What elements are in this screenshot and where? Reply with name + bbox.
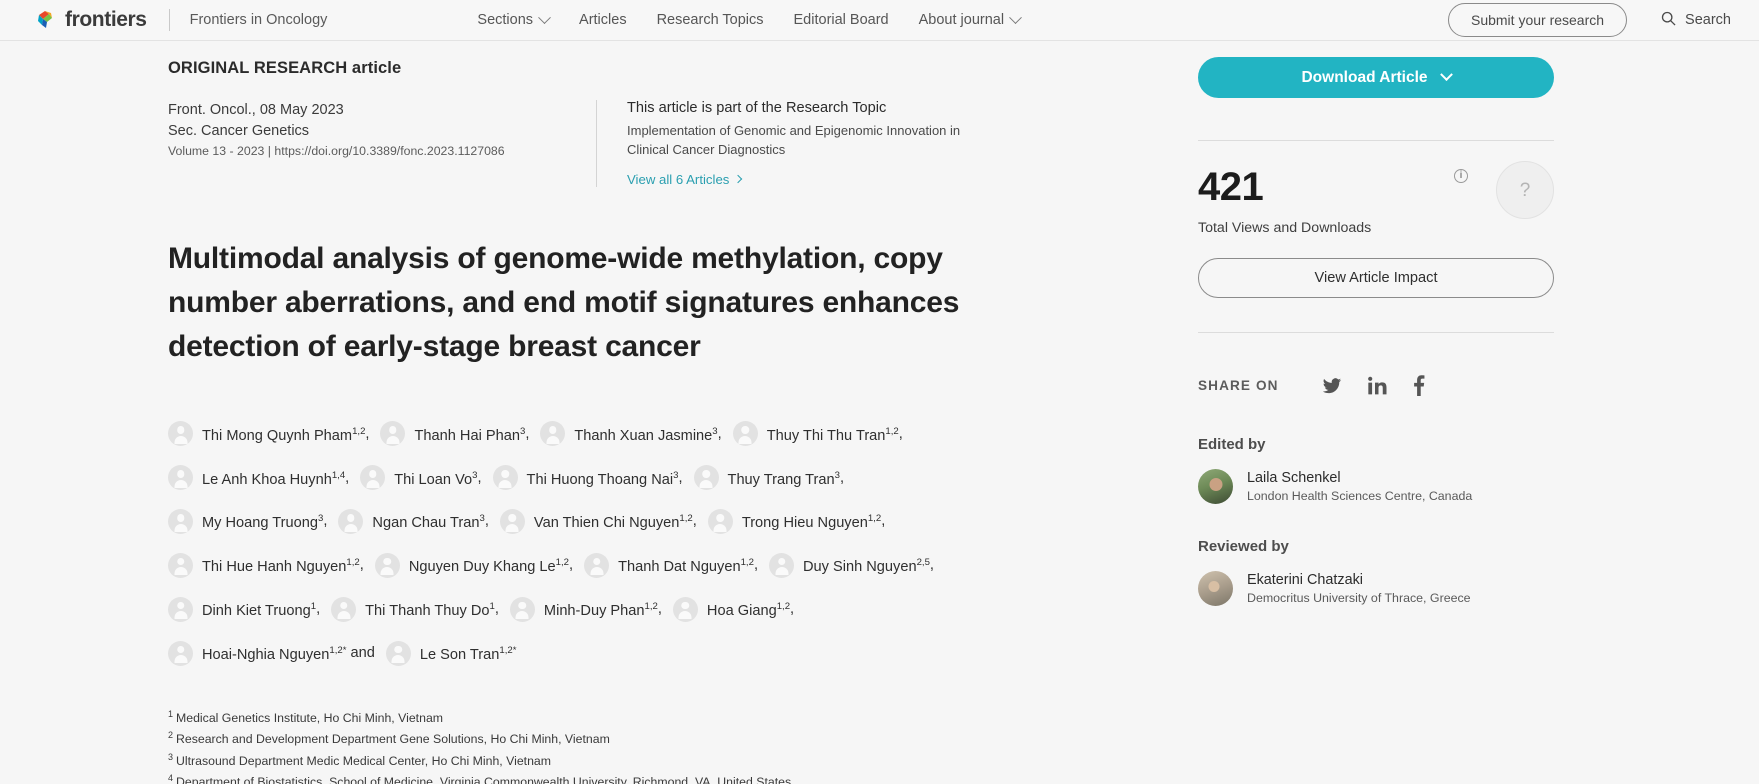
author-name: Thanh Xuan Jasmine3 [574,428,717,444]
author-separator: , [693,513,697,529]
author-item[interactable]: Minh-Duy Phan1,2 [510,601,658,617]
article-main: ORIGINAL RESEARCH article Front. Oncol.,… [0,41,1192,784]
author-item[interactable]: Thanh Dat Nguyen1,2 [584,557,754,573]
author-item[interactable]: Thi Thanh Thuy Do1 [331,601,495,617]
download-label: Download Article [1301,69,1427,87]
author-item[interactable]: Thi Huong Thoang Nai3 [493,470,679,486]
avatar [380,421,405,446]
search-icon [1661,11,1676,30]
header-actions: Submit your research Search [1448,3,1731,37]
share-section: SHARE ON [1198,375,1554,396]
author-name: Duy Sinh Nguyen2,5 [803,559,930,575]
author-name: Thanh Hai Phan3 [414,428,525,444]
brand-divider [169,9,170,31]
avatar [360,465,385,490]
article-sidebar: Download Article i ? 421 Total Views and… [1192,41,1759,784]
divider [1198,332,1554,333]
author-separator: , [360,557,364,573]
author-name: My Hoang Truong3 [202,515,323,531]
editor-item[interactable]: Laila Schenkel London Health Sciences Ce… [1198,469,1554,504]
author-item[interactable]: Van Thien Chi Nguyen1,2 [500,513,693,529]
author-separator: , [899,426,903,442]
nav-label: Research Topics [657,12,764,28]
author-item[interactable]: Duy Sinh Nguyen2,5 [769,557,930,573]
author-name: Thi Huong Thoang Nai3 [527,472,679,488]
avatar [168,509,193,534]
author-separator: , [495,601,499,617]
total-views-label: Total Views and Downloads [1198,220,1554,236]
author-item[interactable]: Thanh Xuan Jasmine3 [540,426,717,442]
affiliation-item: 1Medical Genetics Institute, Ho Chi Minh… [168,707,1192,728]
view-article-impact-button[interactable]: View Article Impact [1198,258,1554,298]
avatar [168,421,193,446]
author-separator: , [365,426,369,442]
author-separator: , [790,601,794,617]
divider [1198,140,1554,141]
search-button[interactable]: Search [1661,11,1731,30]
author-separator: and [346,645,374,661]
author-separator: , [754,557,758,573]
page-title: Multimodal analysis of genome-wide methy… [168,237,998,370]
author-separator: , [718,426,722,442]
research-topic-heading: This article is part of the Research Top… [627,100,999,116]
frontiers-logo-icon [36,9,58,31]
nav-label: Sections [477,12,533,28]
avatar [493,465,518,490]
author-separator: , [840,470,844,486]
avatar [510,597,535,622]
article-meta-row: Front. Oncol., 08 May 2023 Sec. Cancer G… [168,100,1192,187]
author-separator: , [477,470,481,486]
author-item[interactable]: Hoai-Nghia Nguyen1,2* [168,645,346,661]
author-item[interactable]: Hoa Giang1,2 [673,601,790,617]
main-nav: Sections Articles Research Topics Editor… [477,12,1020,28]
author-item[interactable]: Le Son Tran1,2* [386,645,517,661]
volume-doi[interactable]: Volume 13 - 2023 | https://doi.org/10.33… [168,144,568,158]
avatar [168,465,193,490]
reviewed-by-block: Reviewed by Ekaterini Chatzaki Democritu… [1198,538,1554,606]
author-item[interactable]: Thuy Trang Tran3 [694,470,840,486]
avatar [1198,571,1233,606]
journal-date: Front. Oncol., 08 May 2023 [168,100,568,121]
author-name: Thi Thanh Thuy Do1 [365,603,495,619]
author-name: Thanh Dat Nguyen1,2 [618,559,754,575]
view-all-articles-link[interactable]: View all 6 Articles [627,172,999,187]
help-icon[interactable]: ? [1496,161,1554,219]
nav-label: About journal [919,12,1004,28]
author-separator: , [658,601,662,617]
avatar [708,509,733,534]
author-item[interactable]: Nguyen Duy Khang Le1,2 [375,557,569,573]
author-name: Dinh Kiet Truong1 [202,603,316,619]
edited-by-block: Edited by Laila Schenkel London Health S… [1198,436,1554,504]
chevron-down-icon [538,11,551,24]
avatar [584,553,609,578]
author-separator: , [316,601,320,617]
author-separator: , [930,557,934,573]
author-list: Thi Mong Quynh Pham1,2,Thanh Hai Phan3,T… [168,412,968,675]
nav-label: Editorial Board [794,12,889,28]
avatar [338,509,363,534]
author-name: Le Son Tran1,2* [420,647,517,663]
reviewer-affiliation: Democritus University of Thrace, Greece [1247,591,1471,605]
article-stats: i ? 421 Total Views and Downloads [1198,165,1554,236]
avatar [168,641,193,666]
author-name: Hoa Giang1,2 [707,603,790,619]
avatar [694,465,719,490]
chevron-right-icon [734,175,742,183]
nav-item-research-topics[interactable]: Research Topics [657,12,764,28]
search-label: Search [1685,12,1731,28]
author-separator: , [881,513,885,529]
linkedin-icon[interactable] [1367,376,1388,396]
author-name: Thuy Thi Thu Tran1,2 [767,428,899,444]
share-label: SHARE ON [1198,378,1279,393]
author-item[interactable]: Thanh Hai Phan3 [380,426,525,442]
avatar [386,641,411,666]
author-item[interactable]: Thi Mong Quynh Pham1,2 [168,426,365,442]
avatar [733,421,758,446]
nav-item-sections[interactable]: Sections [477,12,549,28]
avatar [1198,469,1233,504]
avatar [331,597,356,622]
article-section: Sec. Cancer Genetics [168,121,568,142]
nav-item-articles[interactable]: Articles [579,12,627,28]
author-name: Thi Hue Hanh Nguyen1,2 [202,559,360,575]
edited-by-label: Edited by [1198,436,1554,453]
author-name: Trong Hieu Nguyen1,2 [742,515,881,531]
research-topic-box: This article is part of the Research Top… [596,100,999,187]
avatar [168,553,193,578]
nav-label: Articles [579,12,627,28]
author-name: Van Thien Chi Nguyen1,2 [534,515,693,531]
author-item[interactable]: Thi Hue Hanh Nguyen1,2 [168,557,360,573]
avatar [375,553,400,578]
nav-item-editorial-board[interactable]: Editorial Board [794,12,889,28]
avatar [769,553,794,578]
author-separator: , [525,426,529,442]
article-type-label: ORIGINAL RESEARCH article [168,59,1192,78]
research-topic-name[interactable]: Implementation of Genomic and Epigenomic… [627,122,999,160]
author-name: Le Anh Khoa Huynh1,4 [202,472,345,488]
author-name: Nguyen Duy Khang Le1,2 [409,559,569,575]
author-item[interactable]: Thi Loan Vo3 [360,470,477,486]
view-all-label: View all 6 Articles [627,172,729,187]
editor-name: Laila Schenkel [1247,470,1472,486]
chevron-down-icon [1009,11,1022,24]
author-item[interactable]: My Hoang Truong3 [168,513,323,529]
author-name: Hoai-Nghia Nguyen1,2* [202,647,346,663]
journal-name[interactable]: Frontiers in Oncology [190,12,328,28]
avatar [168,597,193,622]
reviewer-name: Ekaterini Chatzaki [1247,572,1471,588]
avatar [673,597,698,622]
avatar [540,421,565,446]
affiliation-item: 2Research and Development Department Gen… [168,728,1192,749]
affiliation-item: 4Department of Biostatistics, School of … [168,771,1192,784]
author-item[interactable]: Thuy Thi Thu Tran1,2 [733,426,899,442]
download-article-button[interactable]: Download Article [1198,57,1554,98]
chevron-down-icon [1440,68,1453,81]
author-name: Thuy Trang Tran3 [728,472,840,488]
article-page: frontiers Frontiers in Oncology Sections… [0,0,1759,784]
affiliation-item: 3Ultrasound Department Medic Medical Cen… [168,750,1192,771]
reviewed-by-label: Reviewed by [1198,538,1554,555]
affiliations-list: 1Medical Genetics Institute, Ho Chi Minh… [168,707,1192,784]
brand[interactable]: frontiers Frontiers in Oncology [36,8,327,32]
author-name: Thi Loan Vo3 [394,472,477,488]
info-icon[interactable]: i [1454,169,1468,183]
author-item[interactable]: Ngan Chau Tran3 [338,513,484,529]
avatar [500,509,525,534]
author-separator: , [485,513,489,529]
author-name: Ngan Chau Tran3 [372,515,484,531]
author-item[interactable]: Trong Hieu Nguyen1,2 [708,513,881,529]
share-icons [1321,375,1426,396]
author-separator: , [323,513,327,529]
author-item[interactable]: Le Anh Khoa Huynh1,4 [168,470,345,486]
author-separator: , [678,470,682,486]
author-separator: , [569,557,573,573]
reviewer-item[interactable]: Ekaterini Chatzaki Democritus University… [1198,571,1554,606]
author-item[interactable]: Dinh Kiet Truong1 [168,601,316,617]
author-name: Thi Mong Quynh Pham1,2 [202,428,365,444]
facebook-icon[interactable] [1412,375,1426,396]
author-name: Minh-Duy Phan1,2 [544,603,658,619]
article-meta: Front. Oncol., 08 May 2023 Sec. Cancer G… [168,100,568,187]
author-separator: , [345,470,349,486]
nav-item-about-journal[interactable]: About journal [919,12,1020,28]
submit-research-button[interactable]: Submit your research [1448,3,1627,37]
site-header: frontiers Frontiers in Oncology Sections… [0,0,1759,41]
frontiers-wordmark: frontiers [65,8,147,32]
editor-affiliation: London Health Sciences Centre, Canada [1247,489,1472,503]
twitter-icon[interactable] [1321,376,1343,396]
